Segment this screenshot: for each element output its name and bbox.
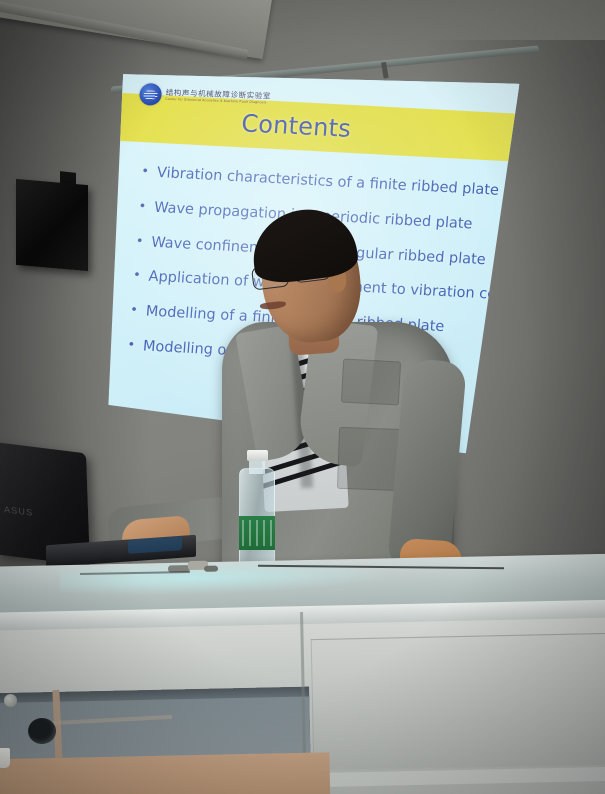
desk-light-reflection [60, 557, 391, 598]
bullet-icon: • [138, 199, 147, 216]
wooden-floor [0, 752, 331, 794]
bullet-icon: • [132, 268, 141, 285]
lab-logo: 结构声与机械故障诊断实验室 Center for Structural Acou… [139, 83, 272, 110]
lab-logo-mark-icon [139, 83, 162, 106]
paper-cup[interactable] [0, 748, 10, 768]
bullet-icon: • [129, 303, 138, 320]
bullet-icon: • [127, 337, 136, 354]
presentation-photo-scene: 结构声与机械故障诊断实验室 Center for Structural Acou… [0, 0, 605, 794]
desk-knob[interactable] [4, 694, 17, 707]
list-item-label: Vibration characteristics of a finite ri… [156, 165, 499, 199]
bullet-icon: • [141, 164, 150, 181]
presenter-jacket-chest-pocket [341, 359, 401, 406]
slide-title: Contents [240, 109, 352, 143]
bottle-cap[interactable] [247, 450, 268, 461]
lab-logo-text: 结构声与机械故障诊断实验室 Center for Structural Acou… [165, 88, 271, 105]
desk-right-panel [311, 633, 605, 771]
bullet-icon: • [135, 233, 144, 250]
bottle-label [239, 516, 275, 550]
wall-speaker [16, 179, 88, 271]
list-item: • Vibration characteristics of a finite … [141, 164, 512, 200]
